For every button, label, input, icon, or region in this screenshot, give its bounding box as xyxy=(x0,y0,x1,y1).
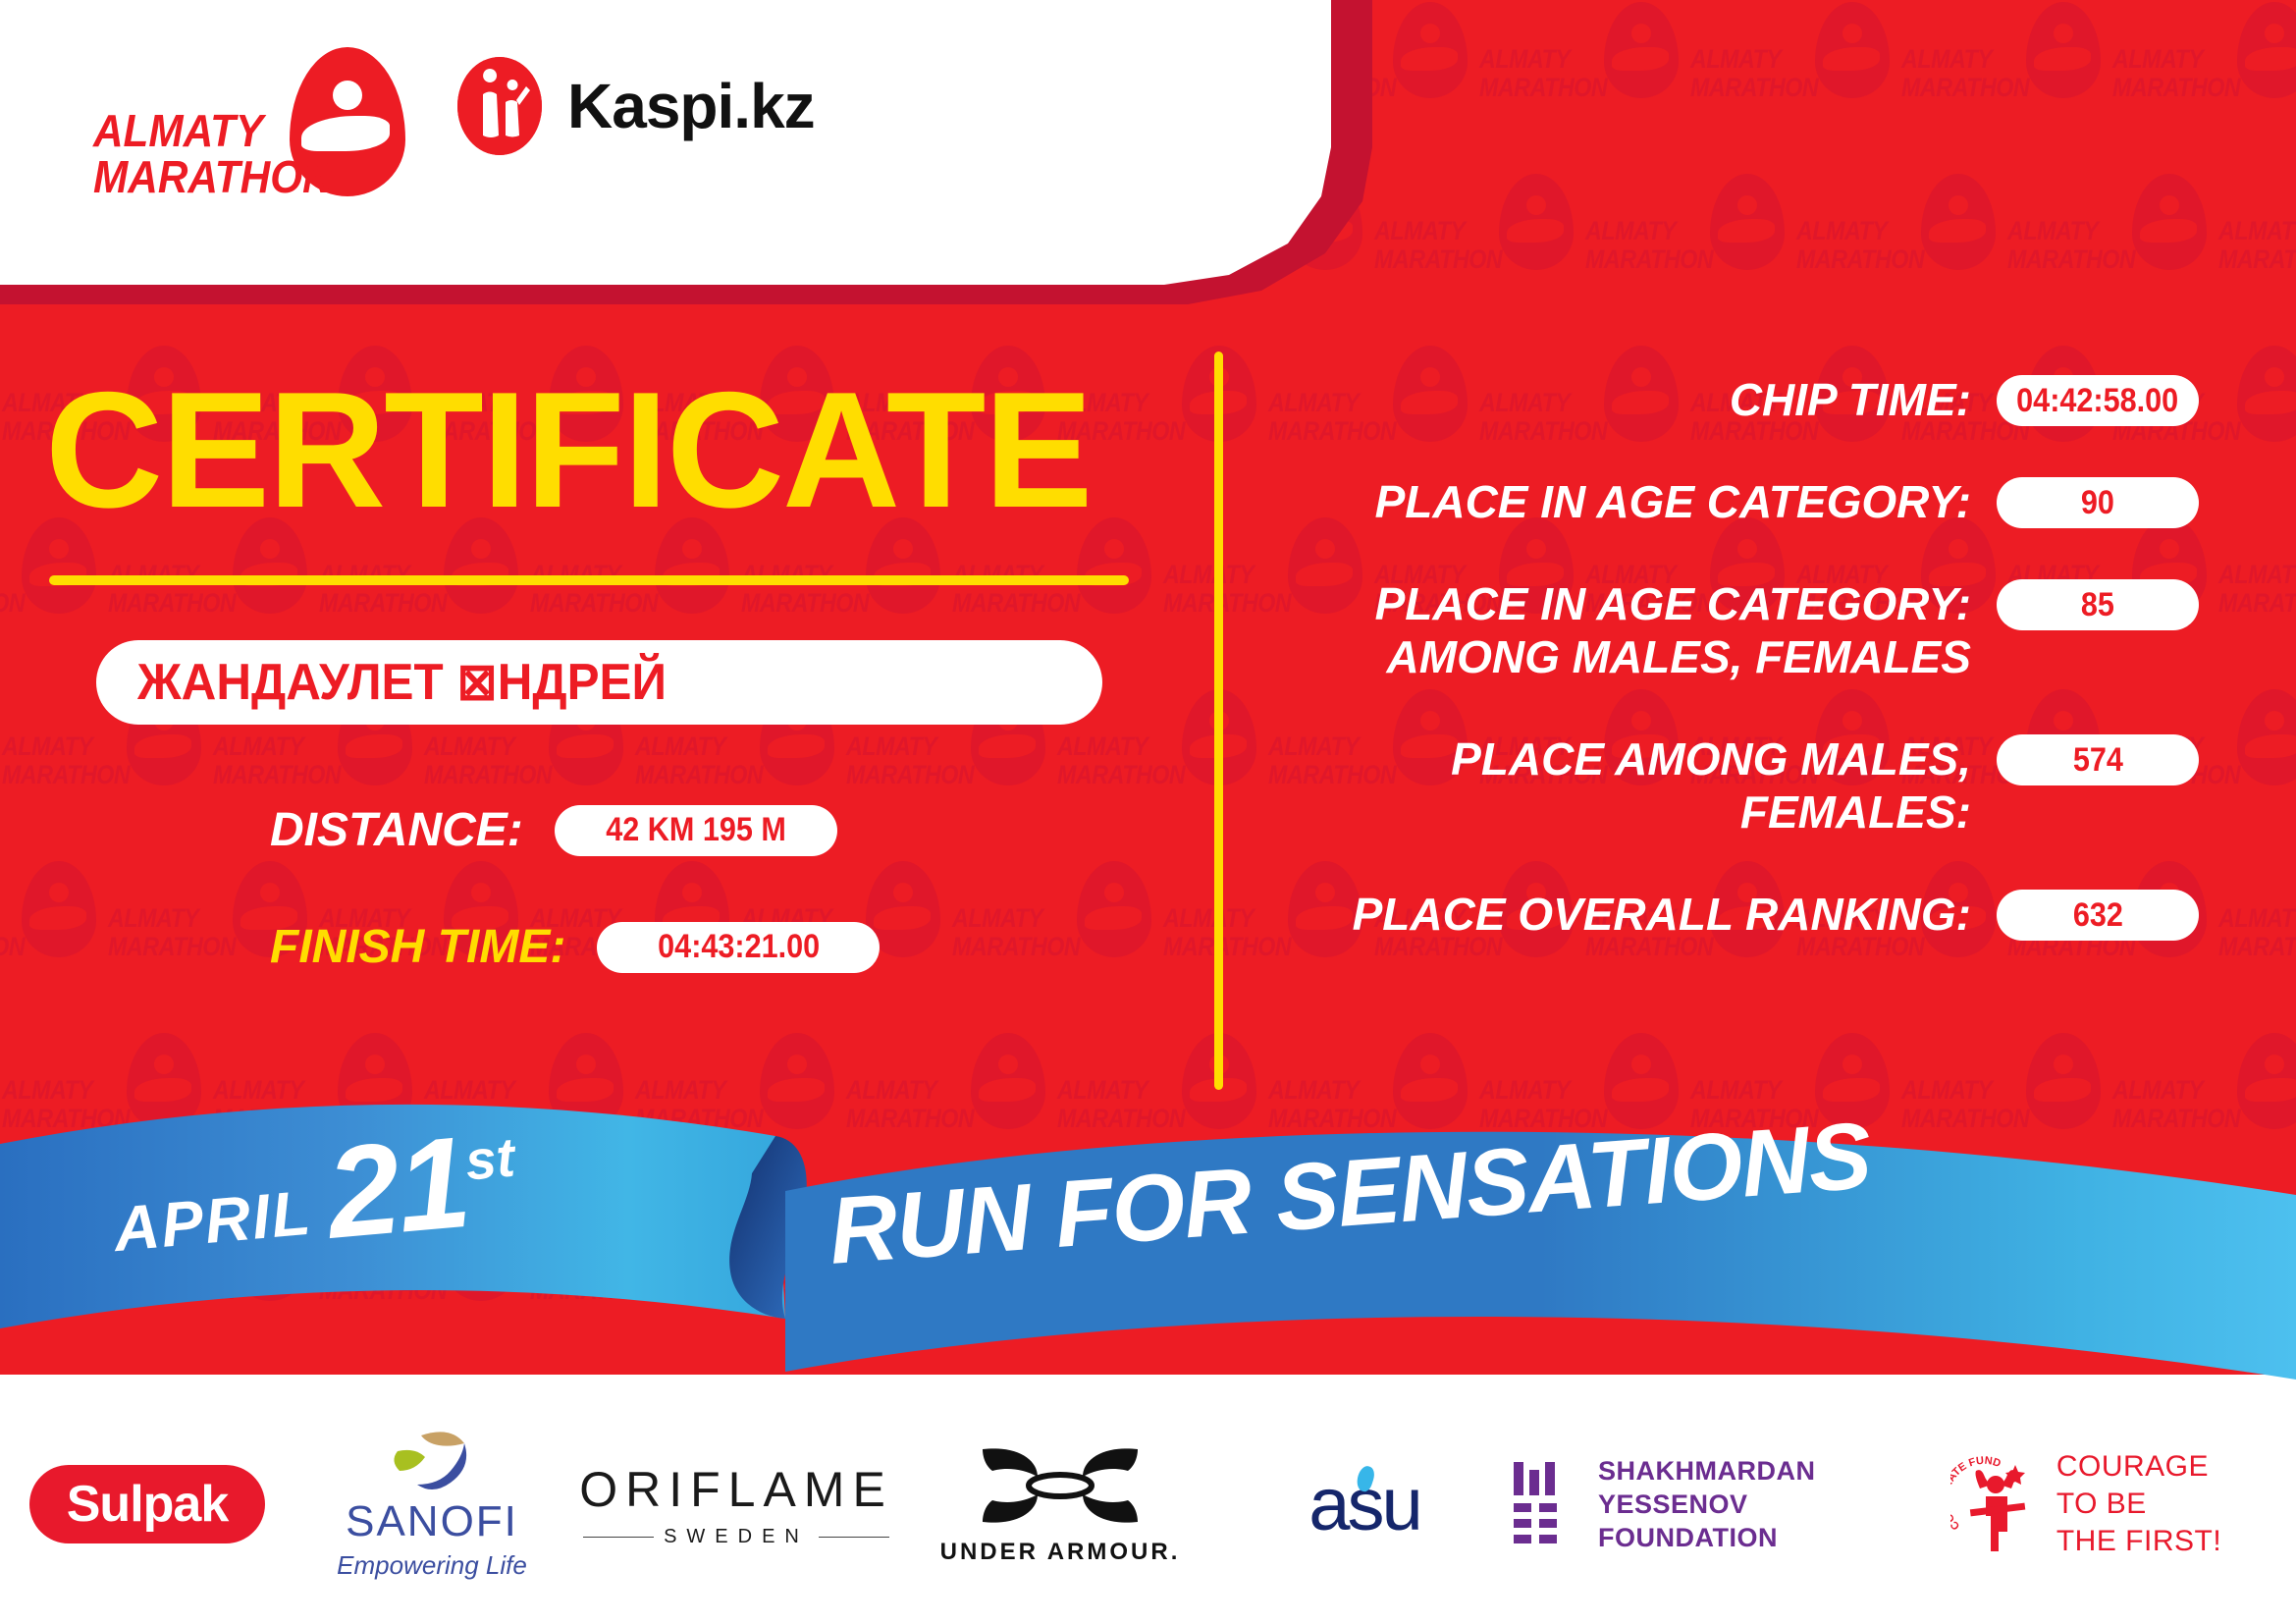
watermark-text: ALMATYMARATHON xyxy=(1163,561,1291,618)
watermark-drop-icon xyxy=(760,1033,834,1129)
sponsor-courage: CORPORATE FUND COURAGE TO BE THE FIRST! xyxy=(1924,1406,2248,1602)
sulpak-wordmark: Sulpak xyxy=(29,1465,266,1543)
watermark-drop-icon xyxy=(655,1205,729,1301)
sponsor-sanofi: SANOFI Empowering Life xyxy=(294,1406,569,1602)
watermark-tile: ALMATYMARATHON xyxy=(1583,172,1794,344)
event-day-ordinal: st xyxy=(463,1124,517,1192)
watermark-tile: ALMATYMARATHON xyxy=(1794,1203,2005,1375)
watermark-drop-icon xyxy=(22,861,96,957)
watermark-text: ALMATYMARATHON xyxy=(0,561,25,618)
stat-label: PLACE AMONG MALES,FEMALES: xyxy=(1276,732,1997,839)
watermark-tile: ALMATYMARATHON xyxy=(1899,0,2110,172)
watermark-text: ALMATYMARATHON xyxy=(108,904,236,961)
header-bar: ALMATY MARATHON Kaspi.kz xyxy=(0,0,1331,285)
watermark-text: ALMATYMARATHON xyxy=(424,732,552,789)
watermark-tile: ALMATYMARATHON xyxy=(1372,172,1583,344)
kaspi-logo: Kaspi.kz xyxy=(457,57,815,155)
courage-line-1: COURAGE xyxy=(2056,1450,2209,1483)
distance-row: DISTANCE: 42 KM 195 M xyxy=(270,803,837,857)
watermark-text: ALMATYMARATHON xyxy=(952,904,1080,961)
stat-value-pill: 632 xyxy=(1997,890,2199,941)
watermark-drop-icon xyxy=(1815,2,1890,98)
watermark-drop-icon xyxy=(1921,1205,1996,1301)
stat-label-line-1: PLACE IN AGE CATEGORY: xyxy=(1375,578,1971,629)
watermark-text: ALMATYMARATHON xyxy=(530,1248,658,1305)
watermark-text: ALMATYMARATHON xyxy=(530,561,658,618)
title-underline xyxy=(49,575,1129,585)
stat-row: PLACE IN AGE CATEGORY:90 xyxy=(1276,475,2199,528)
stat-label-line-1: PLACE AMONG MALES, xyxy=(1451,733,1971,785)
watermark-drop-icon xyxy=(1393,2,1468,98)
watermark-tile: ALMATYMARATHON xyxy=(0,859,106,1031)
stat-value-pill: 574 xyxy=(1997,734,2199,785)
watermark-text: ALMATYMARATHON xyxy=(1374,217,1502,274)
page-title: CERTIFICATE xyxy=(45,367,1091,532)
watermark-drop-icon xyxy=(1393,1033,1468,1129)
watermark-text: ALMATYMARATHON xyxy=(2007,217,2135,274)
stat-label-line-1: PLACE IN AGE CATEGORY: xyxy=(1375,476,1971,527)
watermark-tile: ALMATYMARATHON xyxy=(2216,1203,2296,1375)
under-armour-mark-icon xyxy=(977,1443,1144,1528)
watermark-drop-icon xyxy=(2237,346,2296,442)
watermark-drop-icon xyxy=(1499,174,1574,270)
watermark-drop-icon xyxy=(2132,1205,2207,1301)
sanofi-wordmark: SANOFI xyxy=(337,1497,527,1546)
runner-name-value: ЖАНДАУЛЕТ ⊠НДРЕЙ xyxy=(137,653,667,712)
watermark-tile: ALMATYMARATHON xyxy=(1688,0,1899,172)
watermark-text: ALMATYMARATHON xyxy=(319,561,447,618)
logo-line-1: ALMATY xyxy=(93,108,333,154)
watermark-text: ALMATYMARATHON xyxy=(952,561,1080,618)
courage-line-3: THE FIRST! xyxy=(2056,1525,2221,1557)
stat-value-pill: 90 xyxy=(1997,477,2199,528)
watermark-text: ALMATYMARATHON xyxy=(1268,1076,1396,1133)
watermark-text: ALMATYMARATHON xyxy=(846,732,974,789)
watermark-drop-icon xyxy=(1077,861,1151,957)
watermark-text: ALMATYMARATHON xyxy=(1057,1076,1185,1133)
column-divider xyxy=(1214,352,1223,1090)
watermark-text: ALMATYMARATHON xyxy=(635,1076,763,1133)
watermark-text: ALMATYMARATHON xyxy=(1057,732,1185,789)
sponsor-yessenov: SHAKHMARDAN YESSENOV FOUNDATION xyxy=(1512,1406,1924,1602)
watermark-tile: ALMATYMARATHON xyxy=(2005,172,2216,344)
watermark-drop-icon xyxy=(1604,1033,1679,1129)
watermark-text: ALMATYMARATHON xyxy=(1901,1076,2029,1133)
watermark-drop-icon xyxy=(127,1033,201,1129)
watermark-text: ALMATYMARATHON xyxy=(2007,1248,2135,1305)
event-day: 21 xyxy=(323,1123,473,1253)
stat-value: 632 xyxy=(2072,896,2122,935)
sponsor-under-armour: UNDER ARMOUR. xyxy=(903,1406,1217,1602)
yessenov-line-2: FOUNDATION xyxy=(1598,1523,1778,1552)
watermark-tile: ALMATYMARATHON xyxy=(2216,172,2296,344)
watermark-drop-icon xyxy=(2237,689,2296,785)
watermark-drop-icon xyxy=(2026,1033,2101,1129)
stat-value: 574 xyxy=(2072,741,2122,780)
sponsor-oriflame: ORIFLAME SWEDEN xyxy=(569,1406,903,1602)
watermark-text: ALMATYMARATHON xyxy=(2112,1076,2240,1133)
watermark-tile: ALMATYMARATHON xyxy=(2110,0,2296,172)
oriflame-wordmark: ORIFLAME xyxy=(579,1461,893,1518)
watermark-text: ALMATYMARATHON xyxy=(2218,904,2296,961)
almaty-marathon-logo: ALMATY MARATHON xyxy=(93,47,417,199)
watermark-text: ALMATYMARATHON xyxy=(1163,904,1291,961)
watermark-tile: ALMATYMARATHON xyxy=(2216,859,2296,1031)
watermark-drop-icon xyxy=(971,1033,1045,1129)
under-armour-wordmark: UNDER ARMOUR. xyxy=(940,1539,1181,1566)
watermark-tile: ALMATYMARATHON xyxy=(1899,1031,2110,1203)
stat-value: 85 xyxy=(2081,586,2114,624)
watermark-text: ALMATYMARATHON xyxy=(1374,1248,1502,1305)
stat-value-pill: 04:42:58.00 xyxy=(1997,375,2199,426)
watermark-text: ALMATYMARATHON xyxy=(2,1076,130,1133)
watermark-tile: ALMATYMARATHON xyxy=(1477,0,1688,172)
watermark-drop-icon xyxy=(2237,2,2296,98)
watermark-drop-icon xyxy=(22,1205,96,1301)
watermark-tile: ALMATYMARATHON xyxy=(2110,1031,2296,1203)
stat-value: 90 xyxy=(2081,484,2114,522)
distance-value: 42 KM 195 M xyxy=(606,811,786,849)
stat-row: PLACE IN AGE CATEGORY:AMONG MALES, FEMAL… xyxy=(1276,577,2199,683)
watermark-tile: ALMATYMARATHON xyxy=(633,1031,844,1203)
finish-time-row: FINISH TIME: 04:43:21.00 xyxy=(270,920,880,974)
watermark-text: ALMATYMARATHON xyxy=(635,732,763,789)
watermark-drop-icon xyxy=(2132,174,2207,270)
watermark-tile: ALMATYMARATHON xyxy=(2005,1203,2216,1375)
stat-label: PLACE IN AGE CATEGORY:AMONG MALES, FEMAL… xyxy=(1276,577,1997,683)
watermark-drop-icon xyxy=(2026,2,2101,98)
watermark-text: ALMATYMARATHON xyxy=(1690,45,1818,102)
stat-value: 04:42:58.00 xyxy=(2016,382,2178,420)
distance-pill: 42 KM 195 M xyxy=(555,805,837,856)
stat-label-line-2: AMONG MALES, FEMALES xyxy=(1276,630,1971,683)
stat-label: PLACE OVERALL RANKING: xyxy=(1276,888,1997,941)
watermark-text: ALMATYMARATHON xyxy=(2112,45,2240,102)
watermark-drop-icon xyxy=(1604,2,1679,98)
watermark-text: ALMATYMARATHON xyxy=(2,732,130,789)
sponsor-strip: Sulpak SANOFI Empowering Life ORIFLAME S… xyxy=(0,1406,2296,1602)
stat-row: PLACE AMONG MALES,FEMALES:574 xyxy=(1276,732,2199,839)
stat-label: PLACE IN AGE CATEGORY: xyxy=(1276,475,1997,528)
watermark-tile: ALMATYMARATHON xyxy=(950,859,1161,1031)
watermark-text: ALMATYMARATHON xyxy=(846,1076,974,1133)
watermark-text: ALMATYMARATHON xyxy=(0,904,25,961)
watermark-text: ALMATYMARATHON xyxy=(1479,45,1607,102)
stat-label-line-1: CHIP TIME: xyxy=(1730,374,1971,425)
watermark-drop-icon xyxy=(2237,1033,2296,1129)
stat-value-pill: 85 xyxy=(1997,579,2199,630)
watermark-text: ALMATYMARATHON xyxy=(0,1248,25,1305)
courage-mark-icon: CORPORATE FUND xyxy=(1950,1453,2041,1555)
watermark-tile: ALMATYMARATHON xyxy=(2216,515,2296,687)
watermark-drop-icon xyxy=(1710,174,1785,270)
kaspi-mark-icon xyxy=(457,57,542,155)
watermark-text: ALMATYMARATHON xyxy=(1585,217,1713,274)
oriflame-sub: SWEDEN xyxy=(664,1526,809,1548)
stat-label-line-2: FEMALES: xyxy=(1276,785,1971,839)
watermark-tile: ALMATYMARATHON xyxy=(0,1203,106,1375)
certificate-canvas: ALMATYMARATHONALMATYMARATHONALMATYMARATH… xyxy=(0,0,2296,1624)
watermark-text: ALMATYMARATHON xyxy=(2218,561,2296,618)
watermark-text: ALMATYMARATHON xyxy=(213,732,341,789)
watermark-text: ALMATYMARATHON xyxy=(1796,217,1924,274)
stat-row: CHIP TIME:04:42:58.00 xyxy=(1276,373,2199,426)
stat-label: CHIP TIME: xyxy=(1276,373,1997,426)
runner-name-field: ЖАНДАУЛЕТ ⊠НДРЕЙ xyxy=(96,640,1102,725)
watermark-text: ALMATYMARATHON xyxy=(2218,217,2296,274)
sponsor-asu: asu xyxy=(1217,1406,1512,1602)
yessenov-mark-icon xyxy=(1512,1462,1573,1546)
watermark-text: ALMATYMARATHON xyxy=(1796,1248,1924,1305)
results-stats-list: CHIP TIME:04:42:58.00PLACE IN AGE CATEGO… xyxy=(1276,373,2199,990)
sponsor-sulpak: Sulpak xyxy=(0,1406,294,1602)
watermark-text: ALMATYMARATHON xyxy=(1901,45,2029,102)
watermark-tile: ALMATYMARATHON xyxy=(1794,172,2005,344)
sanofi-mark-icon xyxy=(378,1428,486,1492)
kaspi-wordmark: Kaspi.kz xyxy=(567,70,815,142)
watermark-text: ALMATYMARATHON xyxy=(108,561,236,618)
asu-wordmark: asu xyxy=(1308,1462,1420,1547)
watermark-drop-icon xyxy=(1921,174,1996,270)
watermark-tile: ALMATYMARATHON xyxy=(528,1203,739,1375)
stat-label-line-1: PLACE OVERALL RANKING: xyxy=(1353,889,1971,940)
logo-line-2: MARATHON xyxy=(93,154,333,200)
finish-time-label: FINISH TIME: xyxy=(270,920,565,974)
stat-row: PLACE OVERALL RANKING:632 xyxy=(1276,888,2199,941)
yessenov-line-1: SHAKHMARDAN YESSENOV xyxy=(1598,1456,1816,1519)
distance-label: DISTANCE: xyxy=(270,803,523,857)
watermark-text: ALMATYMARATHON xyxy=(741,561,869,618)
watermark-text: ALMATYMARATHON xyxy=(1585,1248,1713,1305)
courage-line-2: TO BE xyxy=(2056,1488,2147,1520)
finish-time-pill: 04:43:21.00 xyxy=(597,922,880,973)
watermark-text: ALMATYMARATHON xyxy=(2218,1248,2296,1305)
watermark-drop-icon xyxy=(549,1033,623,1129)
almaty-marathon-wordmark: ALMATY MARATHON xyxy=(93,108,333,200)
finish-time-value: 04:43:21.00 xyxy=(658,928,820,966)
sanofi-tagline: Empowering Life xyxy=(337,1550,527,1581)
